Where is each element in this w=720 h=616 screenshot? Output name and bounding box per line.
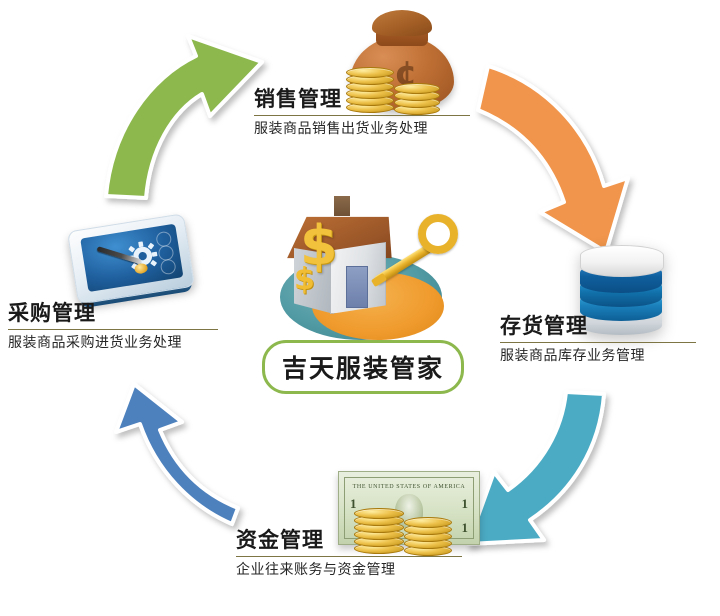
arrow-inventory-to-funds [468,392,604,544]
key-ring-icon [418,214,458,254]
door-icon [346,266,368,308]
money-bag-top [372,10,432,36]
node-label-procurement[interactable]: 采购管理 服装商品采购进货业务处理 [8,300,218,353]
db-top [580,245,664,277]
center-illustration: $ $ [272,196,450,346]
funds-description: 企业往来账务与资金管理 [236,561,462,580]
procurement-title: 采购管理 [8,300,218,326]
node-label-sales[interactable]: 销售管理 服装商品销售出货业务处理 [254,86,470,139]
inventory-divider [500,342,696,343]
dollar-bill-caption: THE UNITED STATES OF AMERICA [339,484,479,490]
procurement-divider [8,329,218,330]
sales-description: 服装商品销售出货业务处理 [254,120,470,139]
dollar-bill-number-right: 1 [462,496,469,512]
procurement-description: 服装商品采购进货业务处理 [8,334,218,353]
node-label-inventory[interactable]: 存货管理 服装商品库存业务管理 [500,313,696,366]
node-label-funds[interactable]: 资金管理 企业往来账务与资金管理 [236,527,462,580]
inventory-description: 服装商品库存业务管理 [500,347,696,366]
sales-divider [254,115,470,116]
chimney-icon [334,196,350,216]
center-badge[interactable]: 吉天服装管家 [262,340,464,394]
dollar-sign-large-icon: $ [300,214,338,277]
inventory-title: 存货管理 [500,313,696,339]
arrow-sales-to-inventory [478,66,628,252]
diagram-canvas: $ $ 吉天服装管家 ¢ 销售管理 服装商品销售出货业务处理 [0,0,720,616]
funds-divider [236,556,462,557]
sales-title: 销售管理 [254,86,470,112]
funds-title: 资金管理 [236,527,462,553]
arrow-procurement-to-sales [106,36,262,198]
screen-circle-3 [160,258,177,275]
center-badge-label: 吉天服装管家 [282,349,444,385]
wand-tip-icon [134,263,148,275]
dollar-bill-number-bottom: 1 [462,520,469,536]
arrow-funds-to-procurement [116,384,238,524]
